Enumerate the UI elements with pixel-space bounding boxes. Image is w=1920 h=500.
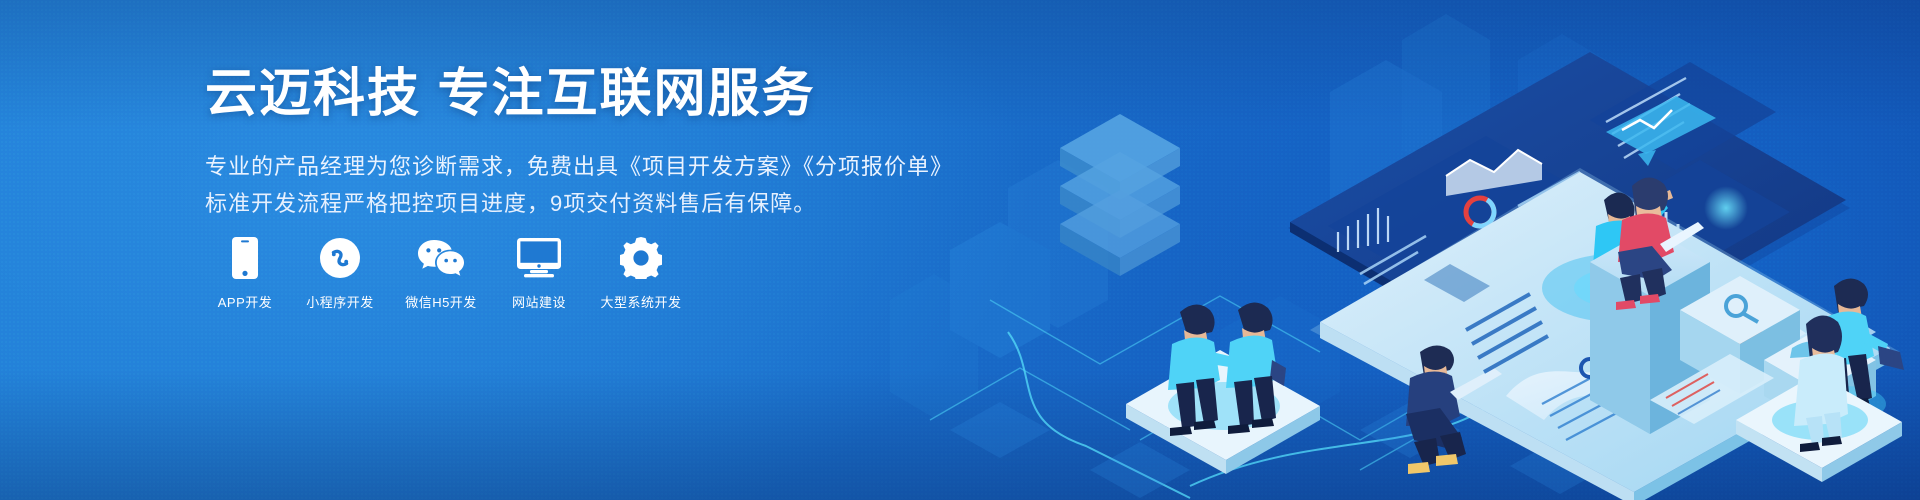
service-item-app[interactable]: APP开发 <box>209 232 281 311</box>
service-list: APP开发 小程序开发 <box>209 232 687 311</box>
service-label: 大型系统开发 <box>595 292 687 311</box>
service-item-large-system[interactable]: 大型系统开发 <box>595 232 687 311</box>
mobile-phone-icon <box>209 232 281 284</box>
server-stack <box>1060 114 1180 276</box>
service-item-wechat-h5[interactable]: 微信H5开发 <box>399 232 483 311</box>
subtitle-line-1: 专业的产品经理为您诊断需求，免费出具《项目开发方案》《分项报价单》 <box>205 148 905 185</box>
page-title: 云迈科技 专注互联网服务 <box>205 68 815 120</box>
monitor-icon <box>503 232 575 284</box>
promo-banner: 云迈科技 专注互联网服务 专业的产品经理为您诊断需求，免费出具《项目开发方案》《… <box>0 0 1920 500</box>
service-label: 网站建设 <box>503 292 575 311</box>
service-item-mini-program[interactable]: 小程序开发 <box>301 232 379 311</box>
service-label: 小程序开发 <box>301 292 379 311</box>
service-label: APP开发 <box>209 292 281 311</box>
banner-content: 云迈科技 专注互联网服务 专业的产品经理为您诊断需求，免费出具《项目开发方案》《… <box>205 0 965 500</box>
subtitle-block: 专业的产品经理为您诊断需求，免费出具《项目开发方案》《分项报价单》 标准开发流程… <box>205 148 905 222</box>
wechat-icon <box>399 232 483 284</box>
gear-icon <box>595 232 687 284</box>
subtitle-line-2: 标准开发流程严格把控项目进度，9项交付资料售后有保障。 <box>205 185 905 222</box>
isometric-illustration <box>890 0 1920 500</box>
service-label: 微信H5开发 <box>399 292 483 311</box>
service-item-website[interactable]: 网站建设 <box>503 232 575 311</box>
mini-program-icon <box>301 232 379 284</box>
